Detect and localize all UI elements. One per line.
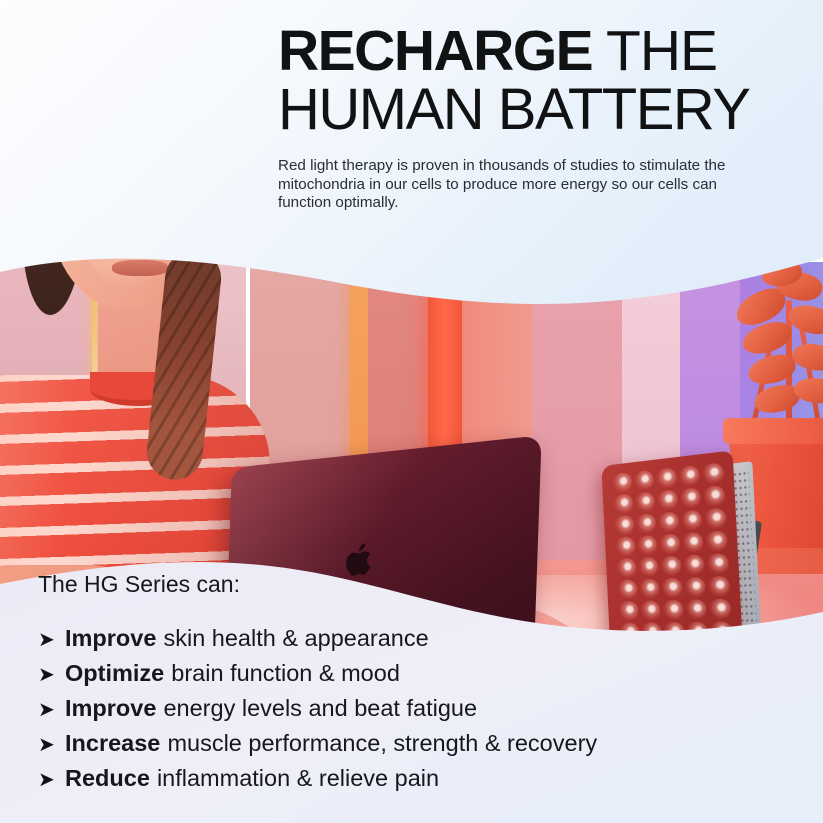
hero-text-block: RECHARGE THE HUMAN BATTERY Red light the… (278, 24, 808, 213)
led-lamp (633, 470, 654, 492)
headline-line-2: HUMAN BATTERY (278, 83, 808, 137)
hero-subtext: Red light therapy is proven in thousands… (278, 157, 758, 213)
benefit-rest: brain function & mood (171, 657, 400, 690)
plant-pot-rim (723, 418, 823, 444)
bullet-arrow-icon: ➤ (38, 624, 65, 657)
led-lamp (635, 513, 656, 534)
poster-canvas: hooga 88:88 ⏻ ◎ ⏻ (0, 0, 823, 823)
page-title: RECHARGE THE HUMAN BATTERY (278, 24, 808, 137)
led-lamp (701, 462, 724, 485)
led-lamp (634, 491, 655, 512)
benefit-rest: muscle performance, strength & recovery (167, 727, 597, 760)
bullet-arrow-icon: ➤ (38, 659, 65, 692)
benefit-rest: energy levels and beat fatigue (163, 692, 477, 725)
led-lamp (613, 493, 634, 514)
led-lamp (657, 511, 679, 532)
benefit-lead: Improve (65, 692, 156, 725)
benefit-item: ➤Improveenergy levels and beat fatigue (38, 692, 678, 727)
benefit-item: ➤Improveskin health & appearance (38, 622, 678, 657)
benefit-lead: Increase (65, 727, 160, 760)
led-lamp (656, 489, 678, 511)
benefit-rest: skin health & appearance (163, 622, 428, 655)
led-lamp (614, 515, 635, 536)
led-lamp (703, 485, 726, 507)
led-lamp (655, 467, 677, 489)
bullet-arrow-icon: ➤ (38, 764, 65, 797)
benefit-rest: inflammation & relieve pain (157, 762, 439, 795)
benefits-block: The HG Series can: ➤Improveskin health &… (38, 571, 678, 797)
bullet-arrow-icon: ➤ (38, 729, 65, 762)
benefit-item: ➤Optimizebrain function & mood (38, 657, 678, 692)
benefits-list: ➤Improveskin health & appearance➤Optimiz… (38, 622, 678, 797)
benefit-lead: Improve (65, 622, 156, 655)
led-lamp (678, 465, 700, 487)
benefits-title: The HG Series can: (38, 571, 678, 598)
benefit-lead: Reduce (65, 762, 150, 795)
benefit-item: ➤Increasemuscle performance, strength & … (38, 727, 678, 762)
bullet-arrow-icon: ➤ (38, 694, 65, 727)
led-lamp (704, 508, 727, 530)
headline-emphasis: RECHARGE (278, 19, 592, 83)
benefit-item: ➤Reduceinflammation & relieve pain (38, 762, 678, 797)
led-lamp (680, 509, 703, 531)
headline-rest: THE (592, 19, 717, 83)
led-lamp (611, 472, 632, 493)
benefit-lead: Optimize (65, 657, 164, 690)
led-lamp (679, 487, 701, 509)
